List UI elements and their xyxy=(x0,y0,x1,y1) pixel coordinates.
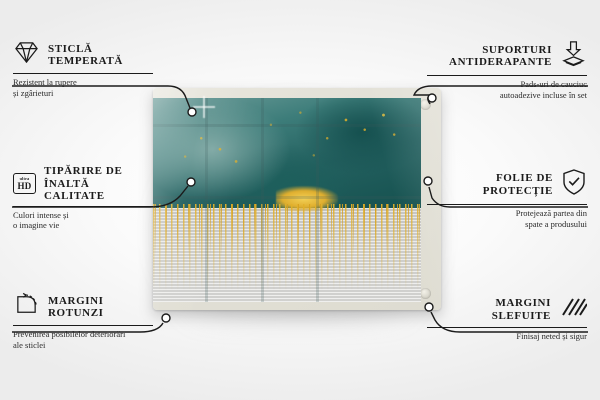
feature-desc-line2: ale sticlei xyxy=(13,340,153,351)
feature-desc-line2: o imagine vie xyxy=(13,220,153,231)
feature-divider xyxy=(427,327,587,328)
feature-desc-line1: Rezistent la rupere xyxy=(13,77,153,88)
feature-title-line2: ROTUNZI xyxy=(48,307,104,320)
reflection-mullion-v1 xyxy=(205,98,208,302)
feature-title-line2: SLEFUITE xyxy=(492,310,551,323)
feature-desc-line2: spate a produsului xyxy=(427,219,587,230)
feature-header: ultra HD TIPĂRIRE DE ÎNALTĂ CALITATE xyxy=(13,165,153,203)
feature-title-line1: FOLIE DE xyxy=(483,172,553,185)
feature-desc-line1: Finisaj neted și sigur xyxy=(427,331,587,342)
feature-divider xyxy=(427,75,587,76)
feature-title-line1: SUPORTURI xyxy=(449,44,552,57)
feature-folie-de-protectie[interactable]: FOLIE DE PROTECȚIE Protejează partea din… xyxy=(427,168,587,229)
feature-divider xyxy=(427,204,587,205)
reflection-mullion-v3 xyxy=(316,98,319,302)
feature-title-line1: MARGINI xyxy=(492,297,551,310)
rounded-corner-icon xyxy=(13,292,40,322)
sparkle-highlight-icon xyxy=(193,96,215,118)
feature-title-line2: ANTIDERAPANTE xyxy=(449,56,552,69)
feature-title-line2: PROTECȚIE xyxy=(483,185,553,198)
feature-header: MARGINI SLEFUITE xyxy=(427,295,587,324)
feature-title-line1: MARGINI xyxy=(48,295,104,308)
shield-check-icon xyxy=(561,168,587,201)
anti-slip-pad-icon xyxy=(560,40,587,72)
diamond-icon xyxy=(13,40,40,70)
feature-header: STICLĂ TEMPERATĂ xyxy=(13,40,153,70)
feature-desc-line1: Pads-uri de cauciuc xyxy=(427,79,587,90)
feature-desc-line1: Culori intense și xyxy=(13,210,153,221)
feature-header: FOLIE DE PROTECȚIE xyxy=(427,168,587,201)
feature-desc-line2: autoadezive incluse în set xyxy=(427,90,587,101)
feature-header: MARGINI ROTUNZI xyxy=(13,292,153,322)
feature-title-line1: STICLĂ xyxy=(48,43,123,56)
feature-desc-line2: și zgârieturi xyxy=(13,88,153,99)
feature-title-line2: ÎNALTĂ CALITATE xyxy=(44,178,153,203)
artwork-gold-drips-secondary xyxy=(155,204,421,257)
ultra-hd-icon: ultra HD xyxy=(13,173,36,194)
reflection-mullion-h2 xyxy=(153,196,421,199)
feature-tiparire-inalta-calitate[interactable]: ultra HD TIPĂRIRE DE ÎNALTĂ CALITATE Cul… xyxy=(13,165,153,231)
rubber-pad-top-right xyxy=(420,99,431,110)
feature-title-line1: TIPĂRIRE DE xyxy=(44,165,153,178)
reflection-mullion-h1 xyxy=(153,124,421,127)
feature-title-line2: TEMPERATĂ xyxy=(48,55,123,68)
feature-desc-line1: Prevenirea posibilelor deteriorări xyxy=(13,329,153,340)
feature-divider xyxy=(13,206,153,207)
feature-divider xyxy=(13,73,153,74)
ultra-hd-icon-main-text: HD xyxy=(17,182,31,191)
reflection-mullion-v2 xyxy=(261,98,264,302)
feature-header: SUPORTURI ANTIDERAPANTE xyxy=(427,40,587,72)
feature-sticla-temperata[interactable]: STICLĂ TEMPERATĂ Rezistent la rupere și … xyxy=(13,40,153,98)
feature-margini-slefuite[interactable]: MARGINI SLEFUITE Finisaj neted și sigur xyxy=(427,295,587,342)
hatch-lines-icon xyxy=(559,295,587,324)
feature-divider xyxy=(13,325,153,326)
feature-suporturi-antiderapante[interactable]: SUPORTURI ANTIDERAPANTE Pads-uri de cauc… xyxy=(427,40,587,100)
product-image xyxy=(153,88,441,310)
feature-desc-line1: Protejează partea din xyxy=(427,208,587,219)
printed-artwork xyxy=(153,98,421,302)
feature-margini-rotunzi[interactable]: MARGINI ROTUNZI Prevenirea posibilelor d… xyxy=(13,292,153,350)
